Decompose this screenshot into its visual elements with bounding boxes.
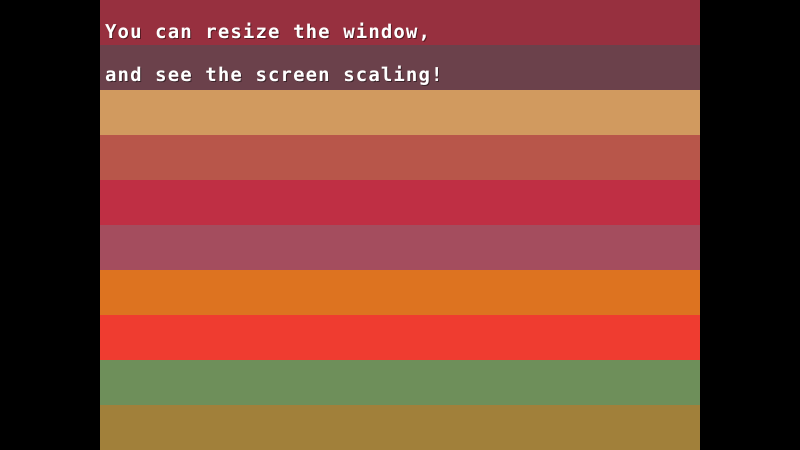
color-band-stack — [100, 0, 700, 450]
screen-scaling-demo-stage: You can resize the window, and see the s… — [0, 0, 800, 450]
scaled-game-viewport[interactable]: You can resize the window, and see the s… — [100, 0, 700, 450]
color-band-dark-crimson — [100, 0, 700, 45]
color-band-dusty-rose — [100, 225, 700, 270]
color-band-dark-gold — [100, 405, 700, 450]
letterbox-bar-left — [0, 0, 100, 450]
color-band-crimson-red — [100, 180, 700, 225]
color-band-sand-tan — [100, 90, 700, 135]
color-band-olive-green — [100, 360, 700, 405]
color-band-orange — [100, 270, 700, 315]
color-band-terracotta — [100, 135, 700, 180]
color-band-bright-red — [100, 315, 700, 360]
letterbox-bar-right — [700, 0, 800, 450]
color-band-muted-plum — [100, 45, 700, 90]
